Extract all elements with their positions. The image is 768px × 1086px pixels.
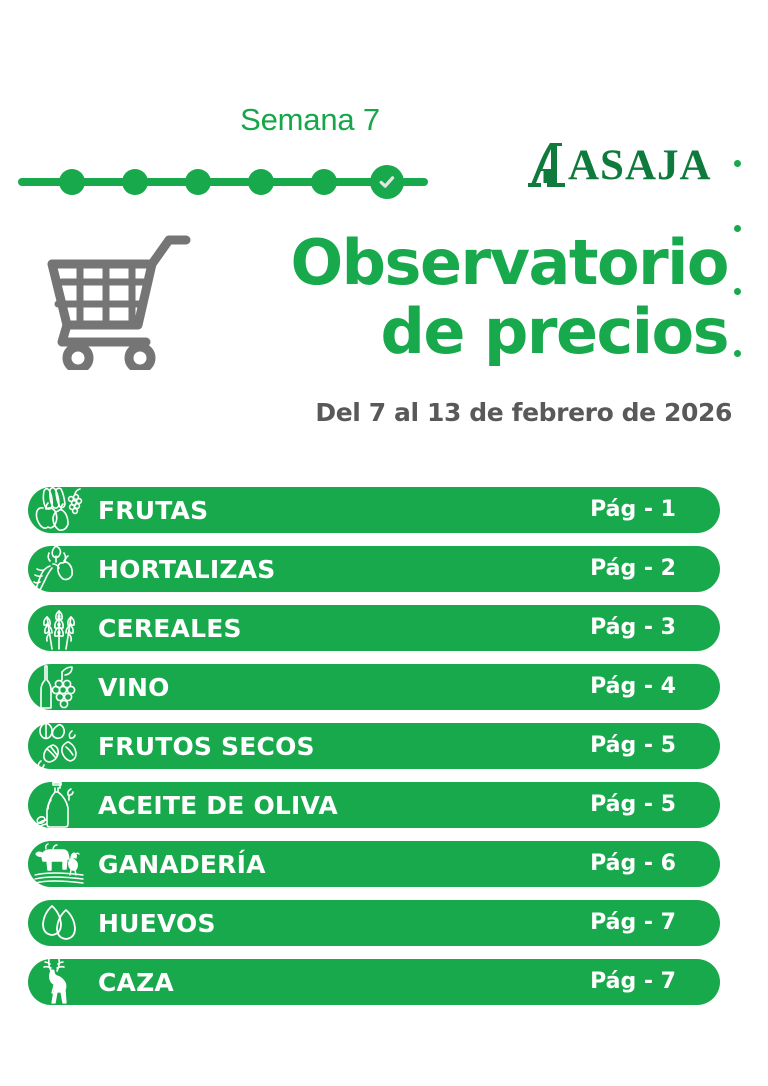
index-row-label: HORTALIZAS bbox=[90, 557, 590, 582]
index-row-frutos-secos[interactable]: FRUTOS SECOS Pág - 5 bbox=[28, 723, 720, 769]
timeline-step-2 bbox=[122, 169, 148, 195]
nuts-icon bbox=[28, 723, 90, 769]
index-row-caza[interactable]: CAZA Pág - 7 bbox=[28, 959, 720, 1005]
decorative-dot bbox=[734, 225, 741, 232]
index-row-ganaderia[interactable]: GANADERÍA Pág - 6 bbox=[28, 841, 720, 887]
decorative-dot bbox=[734, 350, 741, 357]
index-row-label: VINO bbox=[90, 675, 590, 700]
index-row-vino[interactable]: VINO Pág - 4 bbox=[28, 664, 720, 710]
week-progress-timeline bbox=[18, 162, 428, 202]
title-line-1: Observatorio bbox=[200, 228, 728, 297]
date-range: Del 7 al 13 de febrero de 2026 bbox=[200, 400, 732, 425]
index-row-page: Pág - 7 bbox=[590, 912, 720, 934]
index-row-label: FRUTOS SECOS bbox=[90, 734, 590, 759]
eggs-icon bbox=[28, 900, 90, 946]
index-row-hortalizas[interactable]: HORTALIZAS Pág - 2 bbox=[28, 546, 720, 592]
vegetables-icon bbox=[28, 546, 90, 592]
timeline-step-5 bbox=[311, 169, 337, 195]
index-row-label: HUEVOS bbox=[90, 911, 590, 936]
index-row-label: GANADERÍA bbox=[90, 852, 590, 877]
deer-icon bbox=[28, 959, 90, 1005]
timeline-step-6-current bbox=[370, 165, 404, 199]
index-row-frutas[interactable]: FRUTAS Pág - 1 bbox=[28, 487, 720, 533]
index-row-label: ACEITE DE OLIVA bbox=[90, 793, 590, 818]
index-row-page: Pág - 5 bbox=[590, 735, 720, 757]
week-label: Semana 7 bbox=[0, 104, 620, 135]
olive-oil-bottle-icon bbox=[28, 782, 90, 828]
index-row-cereales[interactable]: CEREALES Pág - 3 bbox=[28, 605, 720, 651]
index-row-page: Pág - 7 bbox=[590, 971, 720, 993]
wine-grapes-icon bbox=[28, 664, 90, 710]
title-line-2: de precios bbox=[200, 297, 728, 366]
timeline-step-1 bbox=[59, 169, 85, 195]
asaja-wordmark: ASAJA bbox=[568, 144, 712, 187]
index-row-label: FRUTAS bbox=[90, 498, 590, 523]
index-row-page: Pág - 5 bbox=[590, 794, 720, 816]
index-row-page: Pág - 1 bbox=[590, 499, 720, 521]
wheat-icon bbox=[28, 605, 90, 651]
index-row-label: CEREALES bbox=[90, 616, 590, 641]
poster-title: Observatorio de precios bbox=[200, 228, 728, 367]
decorative-dot bbox=[734, 160, 741, 167]
index-row-page: Pág - 4 bbox=[590, 676, 720, 698]
shopping-cart-icon bbox=[34, 230, 192, 375]
decorative-dot bbox=[734, 288, 741, 295]
fruits-icon bbox=[28, 487, 90, 533]
poster-page: Semana 7 ASAJA bbox=[0, 0, 768, 1086]
asaja-plow-mark bbox=[524, 141, 570, 189]
livestock-icon bbox=[28, 841, 90, 887]
timeline-step-4 bbox=[248, 169, 274, 195]
index-row-label: CAZA bbox=[90, 970, 590, 995]
index-row-aceite-de-oliva[interactable]: ACEITE DE OLIVA Pág - 5 bbox=[28, 782, 720, 828]
index-list: FRUTAS Pág - 1 bbox=[28, 487, 720, 1018]
asaja-logo: ASAJA bbox=[524, 143, 712, 187]
index-row-page: Pág - 2 bbox=[590, 558, 720, 580]
check-icon bbox=[377, 172, 397, 192]
index-row-huevos[interactable]: HUEVOS Pág - 7 bbox=[28, 900, 720, 946]
index-row-page: Pág - 6 bbox=[590, 853, 720, 875]
index-row-page: Pág - 3 bbox=[590, 617, 720, 639]
timeline-step-3 bbox=[185, 169, 211, 195]
